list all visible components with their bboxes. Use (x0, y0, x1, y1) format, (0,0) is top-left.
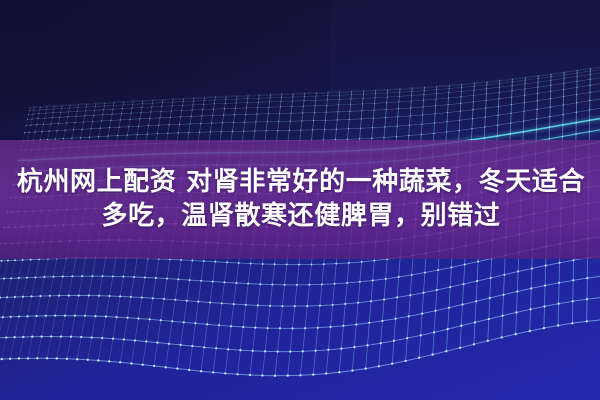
promo-banner: 杭州网上配资 对肾非常好的一种蔬菜，冬天适合 多吃，温肾散寒还健脾胃，别错过 (0, 0, 600, 400)
caption-line-2: 多吃，温肾散寒还健脾胃，别错过 (99, 200, 500, 233)
caption-overlay-band: 杭州网上配资 对肾非常好的一种蔬菜，冬天适合 多吃，温肾散寒还健脾胃，别错过 (0, 140, 600, 259)
caption-line-1: 杭州网上配资 对肾非常好的一种蔬菜，冬天适合 (15, 166, 585, 199)
